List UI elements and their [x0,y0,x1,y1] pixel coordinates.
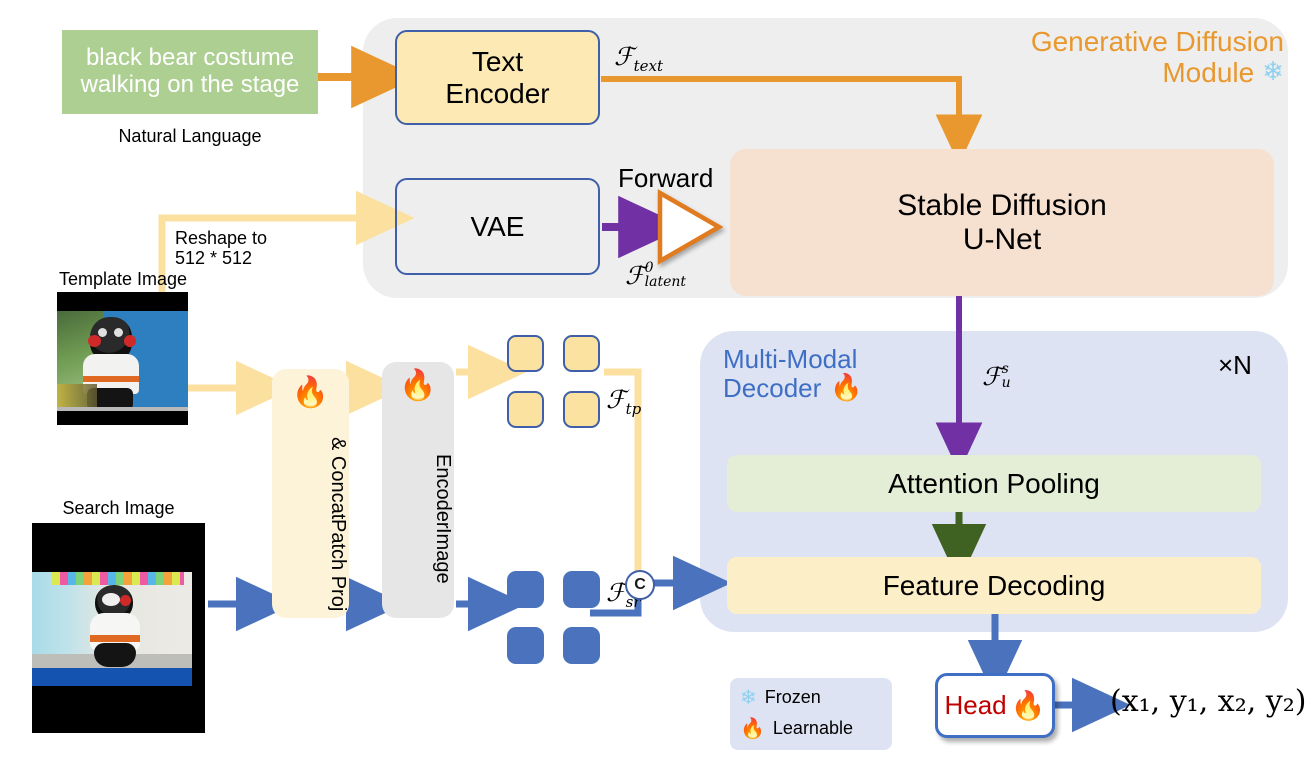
generative-diffusion-module-title: Generative Diffusion Module ❄ [880,26,1284,89]
template-token [507,391,544,428]
image-encoder-box[interactable]: 🔥 Encoder Image [382,362,454,618]
image-encoder-line-1: Image [432,528,454,584]
patch-proj-line-2: & Concat [327,437,349,519]
stable-diffusion-unet-box[interactable]: Stable Diffusion U-Net [730,149,1274,296]
search-token [507,627,544,664]
patch-proj-concat-box[interactable]: 🔥 & Concat Patch Proj [272,369,349,618]
legend-learnable-label: Learnable [773,718,853,739]
text-encoder-line-1: Text [472,46,523,77]
feat-unet-label: ℱ su [982,362,1011,391]
vae-box[interactable]: VAE [395,178,600,275]
search-image-caption: Search Image [32,497,205,519]
unet-line-2: U-Net [963,223,1041,257]
search-image-thumbnail [32,523,205,733]
legend-frozen-label: Frozen [765,687,821,708]
reshape-label: Reshape to 512 * 512 [175,228,305,268]
decoder-title-line-1: Multi-Modal [723,345,983,374]
gdm-title-line-2: Module [1162,57,1254,88]
head-box[interactable]: Head 🔥 [935,673,1055,738]
feat-template-label: ℱtp [606,385,641,418]
search-token [507,571,544,608]
vae-label: VAE [471,211,525,243]
feat-latent-label: ℱ 0latent [625,261,686,290]
repeat-n-label: ×N [1218,350,1252,381]
legend-box: ❄ Frozen 🔥 Learnable [730,678,892,750]
snowflake-icon: ❄ [1262,58,1284,87]
reshape-line-2: 512 * 512 [175,248,305,268]
fire-icon: 🔥 [740,716,765,740]
patch-proj-line-1: Patch Proj [327,519,349,611]
head-label: Head [944,690,1006,721]
feat-text-label: ℱtext [614,42,663,75]
decoder-title-line-2: Decoder [723,374,821,403]
concat-symbol: C [634,576,646,594]
image-encoder-label: Encoder Image [382,426,454,612]
forward-label: Forward [618,163,713,194]
gdm-title-line-1: Generative Diffusion [880,26,1284,57]
prompt-text-box: black bear costume walking on the stage [62,30,318,114]
unet-line-1: Stable Diffusion [897,189,1107,223]
multi-modal-decoder-title: Multi-Modal Decoder 🔥 [723,345,983,403]
template-token [563,391,600,428]
attention-pooling-label: Attention Pooling [888,468,1100,500]
fire-icon: 🔥 [292,375,329,410]
attention-pooling-box[interactable]: Attention Pooling [727,455,1261,512]
text-encoder-line-2: Encoder [445,78,549,109]
template-image-thumbnail [57,292,188,425]
search-token [563,571,600,608]
patch-proj-label: & Concat Patch Proj [272,435,349,613]
search-token [563,627,600,664]
fire-icon: 🔥 [1011,689,1046,722]
feature-decoding-label: Feature Decoding [883,570,1106,602]
feature-decoding-box[interactable]: Feature Decoding [727,557,1261,614]
prompt-line-1: black bear costume [86,45,294,72]
natural-language-caption: Natural Language [62,124,318,148]
fire-icon: 🔥 [399,368,436,403]
snowflake-icon: ❄ [740,685,757,709]
diagram-canvas: black bear costume walking on the stage … [0,0,1314,764]
image-encoder-line-2: Encoder [432,454,454,529]
output-coordinates-label: (x₁, y₁, x₂, y₂) [1110,684,1306,719]
text-encoder-box[interactable]: Text Encoder [395,30,600,125]
template-token [507,335,544,372]
template-image-caption: Template Image [38,268,208,290]
fire-icon: 🔥 [830,374,862,403]
reshape-line-1: Reshape to [175,228,305,248]
concat-node-icon: C [625,570,655,600]
prompt-line-2: walking on the stage [81,72,300,99]
template-token [563,335,600,372]
